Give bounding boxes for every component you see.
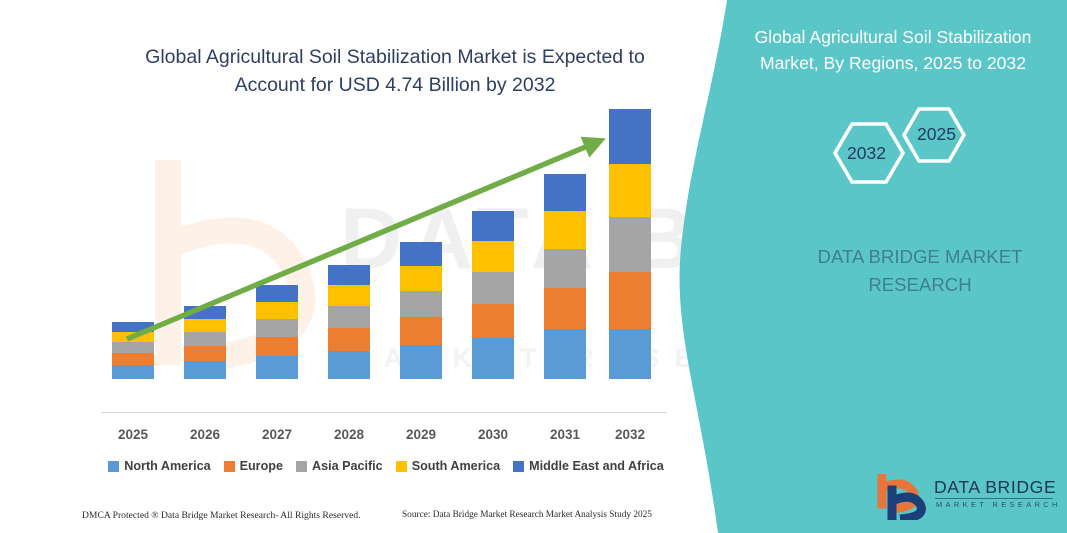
bar-2027 <box>256 285 298 379</box>
x-tick-2025: 2025 <box>93 427 173 442</box>
legend-item-south-america[interactable]: South America <box>396 459 500 473</box>
legend-swatch-icon <box>396 461 407 472</box>
x-axis-line <box>101 412 667 413</box>
bar-segment-2031-middle-east-and-africa <box>544 174 586 211</box>
legend-swatch-icon <box>224 461 235 472</box>
legend-item-north-america[interactable]: North America <box>108 459 210 473</box>
legend-label: North America <box>124 459 210 473</box>
bar-segment-2030-south-america <box>472 241 514 272</box>
bar-segment-2030-europe <box>472 304 514 338</box>
bar-segment-2028-asia-pacific <box>328 306 370 328</box>
bar-segment-2029-europe <box>400 317 442 345</box>
legend-swatch-icon <box>108 461 119 472</box>
bar-2028 <box>328 265 370 379</box>
bar-2030 <box>472 211 514 379</box>
x-tick-2026: 2026 <box>165 427 245 442</box>
bar-segment-2032-asia-pacific <box>609 217 651 272</box>
legend-label: Europe <box>240 459 283 473</box>
bar-segment-2030-north-america <box>472 338 514 379</box>
bar-segment-2031-europe <box>544 288 586 329</box>
bar-2031 <box>544 174 586 379</box>
footer-copyright: DMCA Protected ® Data Bridge Market Rese… <box>82 510 361 521</box>
panel-title: Global Agricultural Soil Stabilization M… <box>735 25 1051 76</box>
bar-segment-2025-north-america <box>112 365 154 379</box>
bar-segment-2025-middle-east-and-africa <box>112 322 154 332</box>
bar-segment-2027-middle-east-and-africa <box>256 285 298 302</box>
bar-2032 <box>609 109 651 379</box>
bar-segment-2032-south-america <box>609 164 651 217</box>
bar-segment-2032-middle-east-and-africa <box>609 109 651 164</box>
data-bridge-logo-mark-icon <box>872 474 930 520</box>
legend-swatch-icon <box>513 461 524 472</box>
bar-segment-2028-middle-east-and-africa <box>328 265 370 285</box>
bar-segment-2025-europe <box>112 353 154 365</box>
bar-segment-2029-north-america <box>400 345 442 379</box>
bar-segment-2025-south-america <box>112 332 154 342</box>
bar-segment-2028-north-america <box>328 351 370 379</box>
infographic-canvas: DATA BRIDGE MARKET RESEARCH Global Agric… <box>0 0 1067 533</box>
panel-brand-name: DATA BRIDGE MARKET RESEARCH <box>795 243 1045 299</box>
bar-segment-2026-middle-east-and-africa <box>184 306 226 319</box>
bar-segment-2029-asia-pacific <box>400 291 442 317</box>
bar-segment-2032-north-america <box>609 329 651 379</box>
hexagon-outlines-icon <box>812 98 1012 208</box>
x-tick-2028: 2028 <box>309 427 389 442</box>
x-tick-2030: 2030 <box>453 427 533 442</box>
logo-name: DATA BRIDGE <box>934 477 1056 498</box>
x-tick-2027: 2027 <box>237 427 317 442</box>
logo-subtitle: MARKET RESEARCH <box>936 500 1061 509</box>
bar-segment-2028-europe <box>328 328 370 351</box>
legend-item-asia-pacific[interactable]: Asia Pacific <box>296 459 383 473</box>
x-tick-2032: 2032 <box>590 427 670 442</box>
hexagon-2025-label: 2025 <box>917 124 956 145</box>
bar-segment-2032-europe <box>609 272 651 329</box>
bar-segment-2031-asia-pacific <box>544 249 586 288</box>
bar-segment-2027-europe <box>256 337 298 356</box>
legend-label: South America <box>412 459 500 473</box>
bar-segment-2029-middle-east-and-africa <box>400 242 442 266</box>
chart-legend: North AmericaEuropeAsia PacificSouth Ame… <box>100 459 672 473</box>
bar-segment-2028-south-america <box>328 285 370 306</box>
bar-segment-2027-north-america <box>256 356 298 379</box>
bar-segment-2031-south-america <box>544 211 586 249</box>
bar-segment-2027-south-america <box>256 302 298 319</box>
legend-label: Asia Pacific <box>312 459 383 473</box>
legend-item-europe[interactable]: Europe <box>224 459 283 473</box>
footer-source: Source: Data Bridge Market Research Mark… <box>402 510 652 520</box>
bar-segment-2026-europe <box>184 346 226 361</box>
legend-item-middle-east-and-africa[interactable]: Middle East and Africa <box>513 459 664 473</box>
hexagon-badges: 2032 2025 <box>812 98 1012 208</box>
legend-swatch-icon <box>296 461 307 472</box>
bar-segment-2030-middle-east-and-africa <box>472 211 514 241</box>
legend-label: Middle East and Africa <box>529 459 664 473</box>
bar-segment-2026-north-america <box>184 361 226 379</box>
bar-segment-2026-asia-pacific <box>184 332 226 346</box>
bar-2025 <box>112 322 154 379</box>
page-title: Global Agricultural Soil Stabilization M… <box>115 44 675 99</box>
bar-segment-2027-asia-pacific <box>256 319 298 337</box>
bar-segment-2025-asia-pacific <box>112 342 154 353</box>
bar-segment-2026-south-america <box>184 319 226 332</box>
bar-segment-2030-asia-pacific <box>472 272 514 304</box>
hexagon-2032-label: 2032 <box>847 143 886 164</box>
bar-segment-2031-north-america <box>544 329 586 379</box>
bar-2026 <box>184 306 226 379</box>
logo-divider <box>935 498 1053 499</box>
bar-segment-2029-south-america <box>400 266 442 291</box>
x-tick-2029: 2029 <box>381 427 461 442</box>
bar-2029 <box>400 242 442 379</box>
data-bridge-logo: DATA BRIDGE MARKET RESEARCH <box>872 474 1062 520</box>
